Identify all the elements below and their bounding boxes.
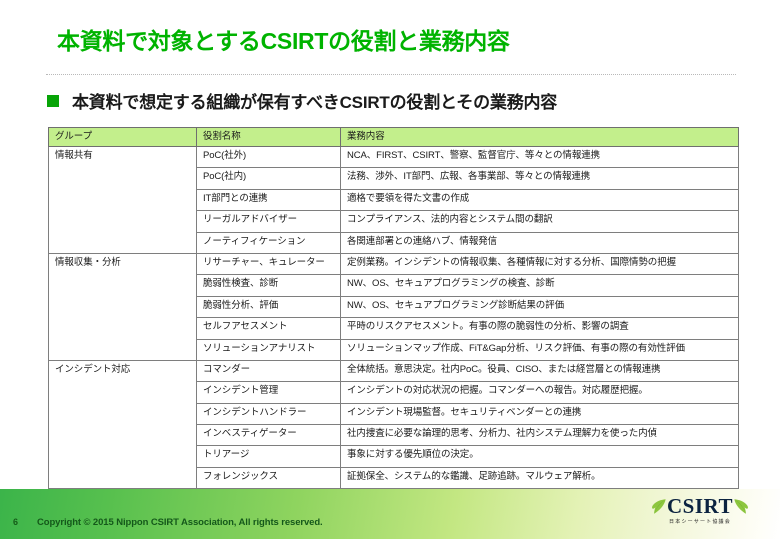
cell-duty: 全体統括。意思決定。社内PoC。役員、CISO、または経営層との情報連携 <box>341 360 739 381</box>
page-title: 本資料で対象とするCSIRTの役割と業務内容 <box>57 22 510 56</box>
logo-wordmark: CSIRT <box>667 496 733 517</box>
cell-role: インシデント管理 <box>197 382 341 403</box>
table-header: グループ 役割名称 業務内容 <box>49 128 739 147</box>
cell-role: コマンダー <box>197 360 341 381</box>
cell-duty: NCA、FIRST、CSIRT、警察、監督官庁、等々との情報連携 <box>341 147 739 168</box>
slide-footer: 6 Copyright © 2015 Nippon CSIRT Associat… <box>0 489 780 539</box>
subheading-row: 本資料で想定する組織が保有すべきCSIRTの役割とその業務内容 <box>47 88 557 113</box>
cell-duty: 定例業務。インシデントの情報収集、各種情報に対する分析、国際情勢の把握 <box>341 253 739 274</box>
copyright-notice: Copyright © 2015 Nippon CSIRT Associatio… <box>37 517 323 528</box>
cell-duty: インシデントの対応状況の把握。コマンダーへの報告。対応履歴把握。 <box>341 382 739 403</box>
cell-role: セルフアセスメント <box>197 318 341 339</box>
cell-role: フォレンジックス <box>197 467 341 488</box>
logo-subtitle: 日本シーサート協議会 <box>636 518 764 525</box>
title-divider <box>46 74 736 75</box>
cell-role: トリアージ <box>197 446 341 467</box>
slide-canvas: 本資料で対象とするCSIRTの役割と業務内容 本資料で想定する組織が保有すべきC… <box>0 0 780 539</box>
page-number: 6 <box>13 517 18 527</box>
cell-duty: NW、OS、セキュアプログラミングの検査、診断 <box>341 275 739 296</box>
leaf-left-icon <box>651 498 667 515</box>
cell-group: 情報収集・分析 <box>49 253 197 360</box>
cell-duty: 社内捜査に必要な論理的思考、分析力、社内システム理解力を使った内偵 <box>341 425 739 446</box>
column-header-role: 役割名称 <box>197 128 341 147</box>
table-row: 情報収集・分析リサーチャー、キュレーター定例業務。インシデントの情報収集、各種情… <box>49 253 739 274</box>
csirt-logo: CSIRT 日本シーサート協議会 <box>636 496 764 528</box>
cell-duty: ソリューションマップ作成、FiT&Gap分析、リスク評価、有事の際の有効性評価 <box>341 339 739 360</box>
cell-role: インシデントハンドラー <box>197 403 341 424</box>
table-row: インシデント対応コマンダー全体統括。意思決定。社内PoC。役員、CISO、または… <box>49 360 739 381</box>
cell-duty: 平時のリスクアセスメント。有事の際の脆弱性の分析、影響の調査 <box>341 318 739 339</box>
column-header-group: グループ <box>49 128 197 147</box>
bullet-square-icon <box>47 95 59 107</box>
cell-role: ノーティフィケーション <box>197 232 341 253</box>
cell-duty: 法務、渉外、IT部門、広報、各事業部、等々との情報連携 <box>341 168 739 189</box>
logo-main-row: CSIRT <box>636 496 764 517</box>
table-row: 情報共有PoC(社外)NCA、FIRST、CSIRT、警察、監督官庁、等々との情… <box>49 147 739 168</box>
subheading-label: 本資料で想定する組織が保有すべきCSIRTの役割とその業務内容 <box>72 88 557 113</box>
cell-role: IT部門との連携 <box>197 189 341 210</box>
leaf-right-icon <box>733 498 749 515</box>
cell-duty: 各関連部署との連絡ハブ、情報発信 <box>341 232 739 253</box>
cell-group: インシデント対応 <box>49 360 197 488</box>
csirt-roles-table: グループ 役割名称 業務内容 情報共有PoC(社外)NCA、FIRST、CSIR… <box>48 127 739 511</box>
cell-duty: 証拠保全、システム的な鑑識、足跡追跡。マルウェア解析。 <box>341 467 739 488</box>
cell-duty: インシデント現場監督。セキュリティベンダーとの連携 <box>341 403 739 424</box>
cell-role: 脆弱性検査、診断 <box>197 275 341 296</box>
cell-role: PoC(社外) <box>197 147 341 168</box>
cell-duty: 適格で要領を得た文書の作成 <box>341 189 739 210</box>
cell-role: 脆弱性分析、評価 <box>197 296 341 317</box>
table-body: 情報共有PoC(社外)NCA、FIRST、CSIRT、警察、監督官庁、等々との情… <box>49 147 739 511</box>
cell-role: インベスティゲーター <box>197 425 341 446</box>
cell-role: PoC(社内) <box>197 168 341 189</box>
cell-group: 情報共有 <box>49 147 197 254</box>
cell-role: ソリューションアナリスト <box>197 339 341 360</box>
column-header-duty: 業務内容 <box>341 128 739 147</box>
table-header-row: グループ 役割名称 業務内容 <box>49 128 739 147</box>
cell-duty: NW、OS、セキュアプログラミング診断結果の評価 <box>341 296 739 317</box>
cell-duty: 事象に対する優先順位の決定。 <box>341 446 739 467</box>
cell-duty: コンプライアンス、法的内容とシステム間の翻訳 <box>341 211 739 232</box>
cell-role: リーガルアドバイザー <box>197 211 341 232</box>
cell-role: リサーチャー、キュレーター <box>197 253 341 274</box>
